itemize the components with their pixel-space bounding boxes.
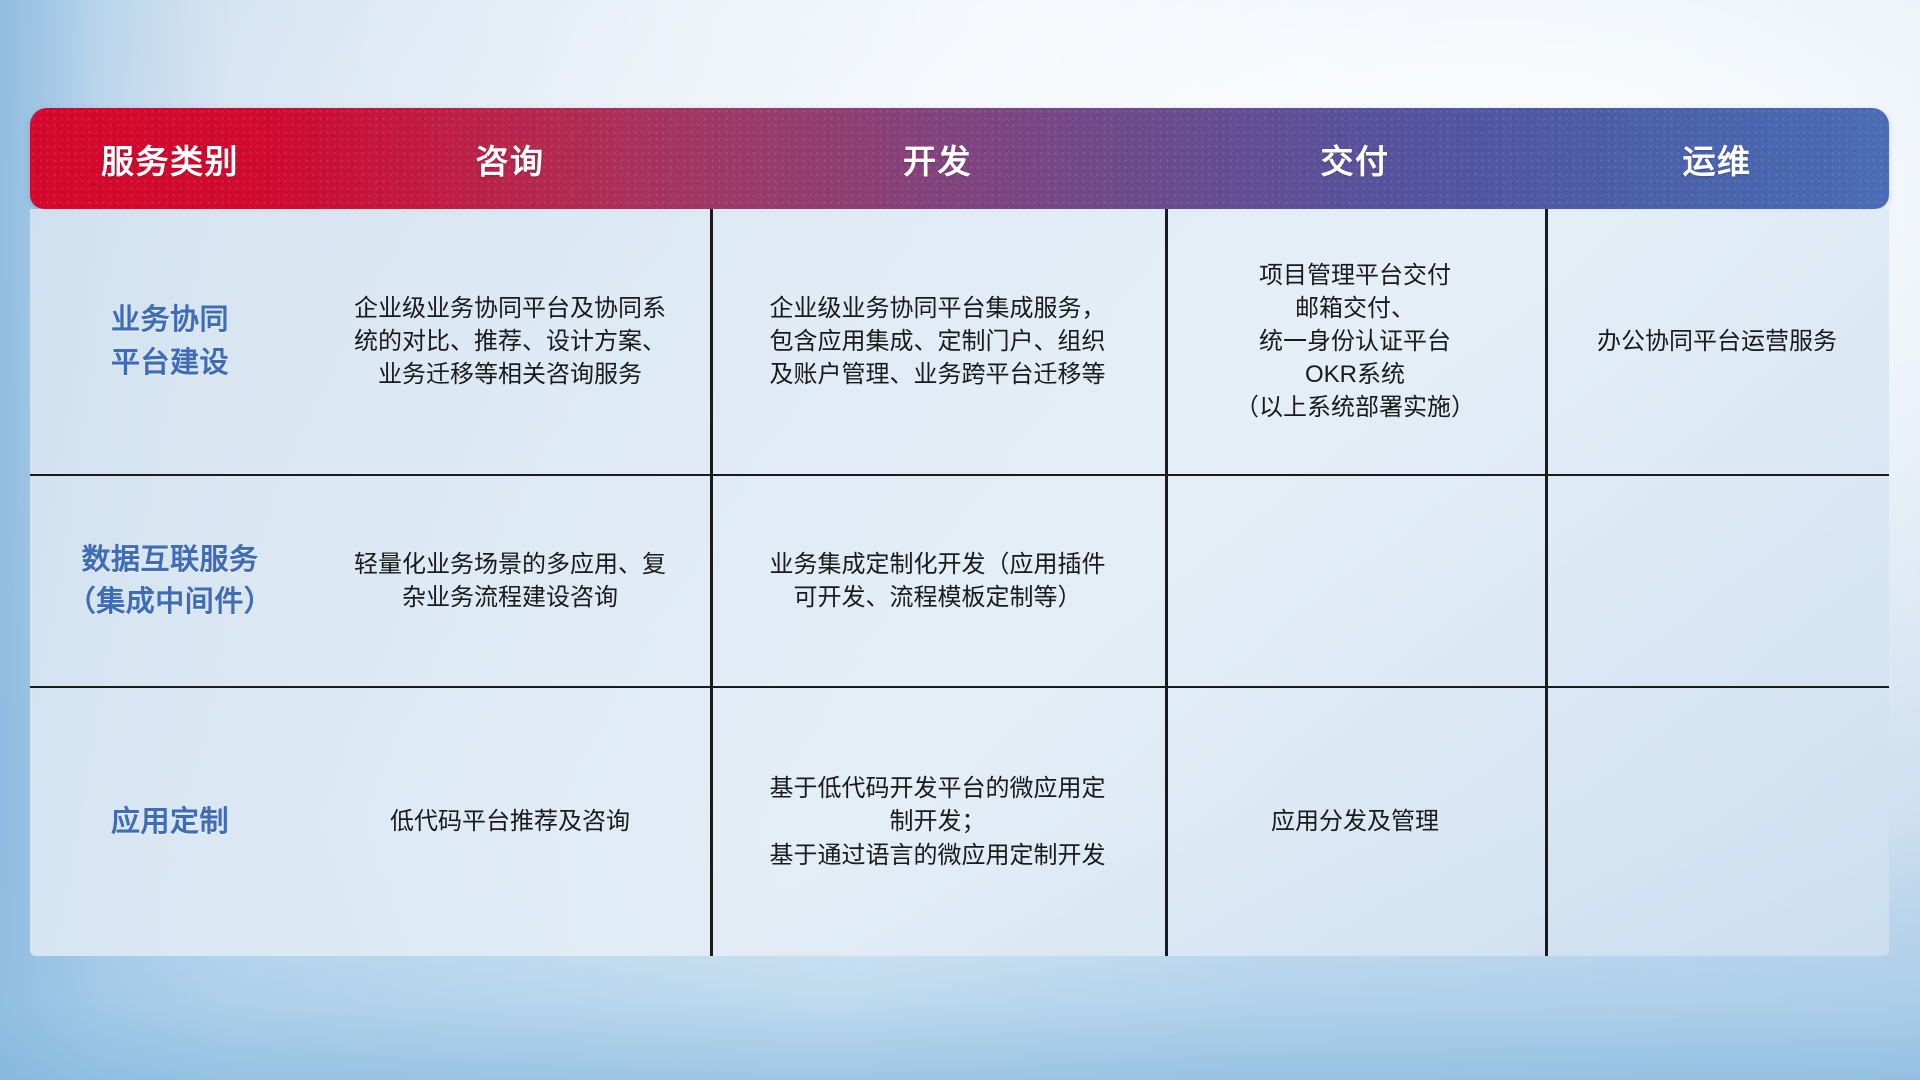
cell-delivery: 项目管理平台交付 邮箱交付、 统一身份认证平台 OKR系统 （以上系统部署实施） bbox=[1165, 209, 1545, 474]
row-category-label: 数据互联服务 （集成中间件） bbox=[30, 476, 310, 686]
column-header-development: 开发 bbox=[710, 135, 1165, 183]
column-header-operations: 运维 bbox=[1545, 135, 1889, 183]
cell-operations bbox=[1545, 688, 1889, 956]
cell-delivery: 应用分发及管理 bbox=[1165, 688, 1545, 956]
cell-consulting: 低代码平台推荐及咨询 bbox=[310, 688, 710, 956]
cell-operations bbox=[1545, 476, 1889, 686]
cell-operations: 办公协同平台运营服务 bbox=[1545, 209, 1889, 474]
column-header-delivery: 交付 bbox=[1165, 135, 1545, 183]
row-category-label: 业务协同 平台建设 bbox=[30, 209, 310, 474]
cell-delivery bbox=[1165, 476, 1545, 686]
cell-consulting: 企业级业务协同平台及协同系 统的对比、推荐、设计方案、 业务迁移等相关咨询服务 bbox=[310, 209, 710, 474]
table-body: 业务协同 平台建设 企业级业务协同平台及协同系 统的对比、推荐、设计方案、 业务… bbox=[30, 209, 1889, 956]
cell-development: 基于低代码开发平台的微应用定 制开发； 基于通过语言的微应用定制开发 bbox=[710, 688, 1165, 956]
cell-development: 业务集成定制化开发（应用插件 可开发、流程模板定制等） bbox=[710, 476, 1165, 686]
table-row: 数据互联服务 （集成中间件） 轻量化业务场景的多应用、复 杂业务流程建设咨询 业… bbox=[30, 474, 1889, 686]
table-row: 业务协同 平台建设 企业级业务协同平台及协同系 统的对比、推荐、设计方案、 业务… bbox=[30, 209, 1889, 474]
cell-development: 企业级业务协同平台集成服务， 包含应用集成、定制门户、组织 及账户管理、业务跨平… bbox=[710, 209, 1165, 474]
column-header-consulting: 咨询 bbox=[310, 135, 710, 183]
service-matrix-table: 服务类别 咨询 开发 交付 运维 业务协同 平台建设 企业级业务协同平台及协同系… bbox=[30, 108, 1889, 956]
table-row: 应用定制 低代码平台推荐及咨询 基于低代码开发平台的微应用定 制开发； 基于通过… bbox=[30, 686, 1889, 956]
column-header-category: 服务类别 bbox=[30, 135, 310, 183]
cell-consulting: 轻量化业务场景的多应用、复 杂业务流程建设咨询 bbox=[310, 476, 710, 686]
table-header-row: 服务类别 咨询 开发 交付 运维 bbox=[30, 108, 1889, 209]
row-category-label: 应用定制 bbox=[30, 688, 310, 956]
